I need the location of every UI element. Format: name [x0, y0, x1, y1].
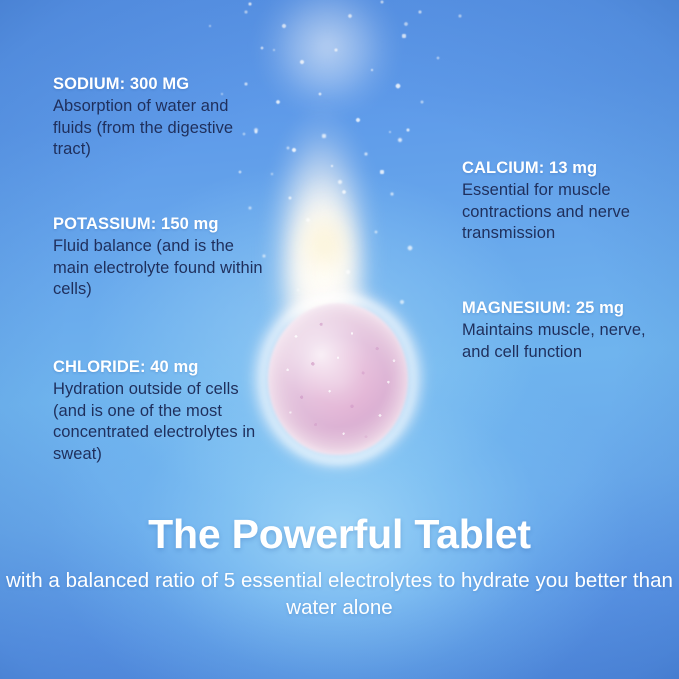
- nutrient-block-potassium: POTASSIUM: 150 mg Fluid balance (and is …: [53, 214, 268, 301]
- nutrient-description-calcium: Essential for muscle contractions and ne…: [462, 180, 674, 245]
- nutrient-description-sodium: Absorption of water and fluids (from the…: [53, 96, 268, 161]
- footer-title: The Powerful Tablet: [0, 510, 679, 558]
- nutrient-heading-potassium: POTASSIUM: 150 mg: [53, 214, 268, 235]
- nutrient-description-magnesium: Maintains muscle, nerve, and cell functi…: [462, 320, 674, 363]
- nutrient-block-magnesium: MAGNESIUM: 25 mg Maintains muscle, nerve…: [462, 298, 674, 363]
- footer-subtitle: with a balanced ratio of 5 essential ele…: [0, 567, 679, 621]
- nutrient-block-chloride: CHLORIDE: 40 mg Hydration outside of cel…: [53, 357, 268, 465]
- nutrient-heading-sodium: SODIUM: 300 MG: [53, 74, 268, 95]
- footer-block: The Powerful Tablet with a balanced rati…: [0, 510, 679, 621]
- nutrient-description-potassium: Fluid balance (and is the main electroly…: [53, 236, 268, 301]
- nutrient-block-sodium: SODIUM: 300 MG Absorption of water and f…: [53, 74, 268, 161]
- electrolyte-tablet-infographic: SODIUM: 300 MG Absorption of water and f…: [0, 0, 679, 679]
- nutrient-heading-chloride: CHLORIDE: 40 mg: [53, 357, 268, 378]
- nutrient-block-calcium: CALCIUM: 13 mg Essential for muscle cont…: [462, 158, 674, 245]
- nutrient-heading-calcium: CALCIUM: 13 mg: [462, 158, 674, 179]
- nutrient-description-chloride: Hydration outside of cells (and is one o…: [53, 379, 268, 465]
- nutrient-heading-magnesium: MAGNESIUM: 25 mg: [462, 298, 674, 319]
